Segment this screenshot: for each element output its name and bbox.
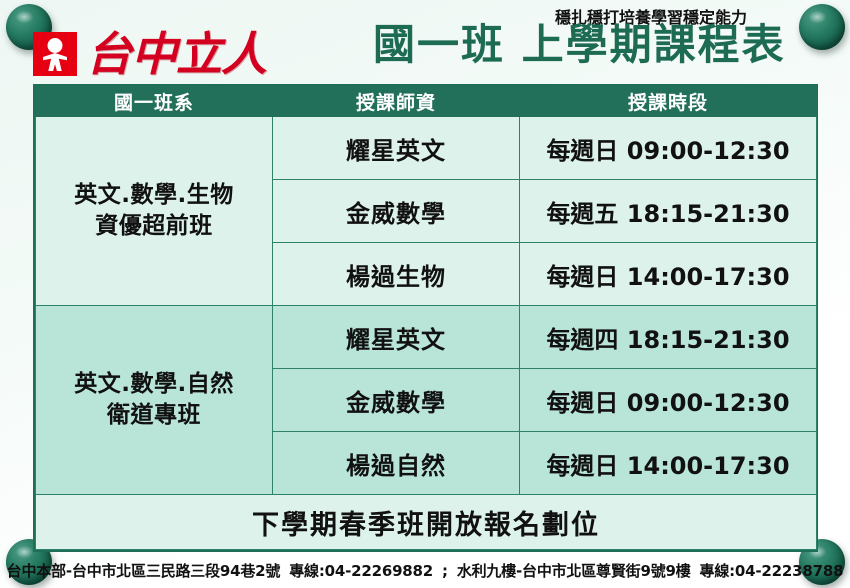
column-header-teacher: 授課師資 (273, 87, 520, 117)
group-name-line2: 衛道專班 (40, 400, 268, 431)
timeslot-cell: 每週日 09:00-12:30 (520, 369, 817, 432)
group-name-cell: 英文.數學.自然 衛道專班 (36, 306, 273, 495)
address-separator: ; (442, 562, 448, 580)
table-header-row: 國一班系 授課師資 授課時段 (36, 87, 817, 117)
person-body-shape (43, 53, 67, 71)
table-row: 下學期春季班開放報名劃位 (36, 495, 817, 550)
table-row: 英文.數學.生物 資優超前班 耀星英文 每週日 09:00-12:30 (36, 117, 817, 180)
teacher-cell: 耀星英文 (273, 306, 520, 369)
column-header-class: 國一班系 (36, 87, 273, 117)
group-name-cell: 英文.數學.生物 資優超前班 (36, 117, 273, 306)
group-name-line1: 英文.數學.生物 (40, 180, 268, 211)
timeslot-cell: 每週日 09:00-12:30 (520, 117, 817, 180)
footer-address-bar: 台中本部-台中市北區三民路三段94巷2號專線:04-22269882;水利九樓-… (0, 553, 850, 588)
branch1-phone: 專線:04-22269882 (289, 562, 433, 580)
branch2-address: 水利九樓-台中市北區尊賢街9號9樓 (457, 562, 691, 580)
person-mark-icon (33, 32, 77, 76)
brand-name: 台中立人 (86, 31, 266, 77)
timeslot-cell: 每週五 18:15-21:30 (520, 180, 817, 243)
enrollment-notice: 下學期春季班開放報名劃位 (36, 495, 817, 550)
teacher-cell: 耀星英文 (273, 117, 520, 180)
timeslot-cell: 每週日 14:00-17:30 (520, 243, 817, 306)
timeslot-cell: 每週日 14:00-17:30 (520, 432, 817, 495)
teacher-cell: 楊過自然 (273, 432, 520, 495)
table-row: 英文.數學.自然 衛道專班 耀星英文 每週四 18:15-21:30 (36, 306, 817, 369)
poster-header: 台中立人 穩扎穩打培養學習穩定能力 國一班 上學期課程表 (0, 0, 850, 84)
branch2-phone: 專線:04-22238788 (700, 562, 844, 580)
teacher-cell: 金威數學 (273, 180, 520, 243)
teacher-cell: 金威數學 (273, 369, 520, 432)
branch1-address: 台中本部-台中市北區三民路三段94巷2號 (7, 562, 281, 580)
page-title: 國一班 上學期課程表 (373, 23, 786, 67)
person-head-shape (48, 38, 63, 53)
teacher-cell: 楊過生物 (273, 243, 520, 306)
course-schedule-poster: 台中立人 穩扎穩打培養學習穩定能力 國一班 上學期課程表 國一班系 授課師資 授… (0, 0, 850, 588)
column-header-timeslot: 授課時段 (520, 87, 817, 117)
schedule-table: 國一班系 授課師資 授課時段 英文.數學.生物 資優超前班 耀星英文 每週日 0… (35, 86, 817, 550)
group-name-line1: 英文.數學.自然 (40, 369, 268, 400)
group-name-line2: 資優超前班 (40, 211, 268, 242)
footer-address-text: 台中本部-台中市北區三民路三段94巷2號專線:04-22269882;水利九樓-… (7, 560, 844, 581)
timeslot-cell: 每週四 18:15-21:30 (520, 306, 817, 369)
schedule-table-container: 國一班系 授課師資 授課時段 英文.數學.生物 資優超前班 耀星英文 每週日 0… (33, 84, 818, 552)
brand-logo: 台中立人 (33, 31, 266, 77)
